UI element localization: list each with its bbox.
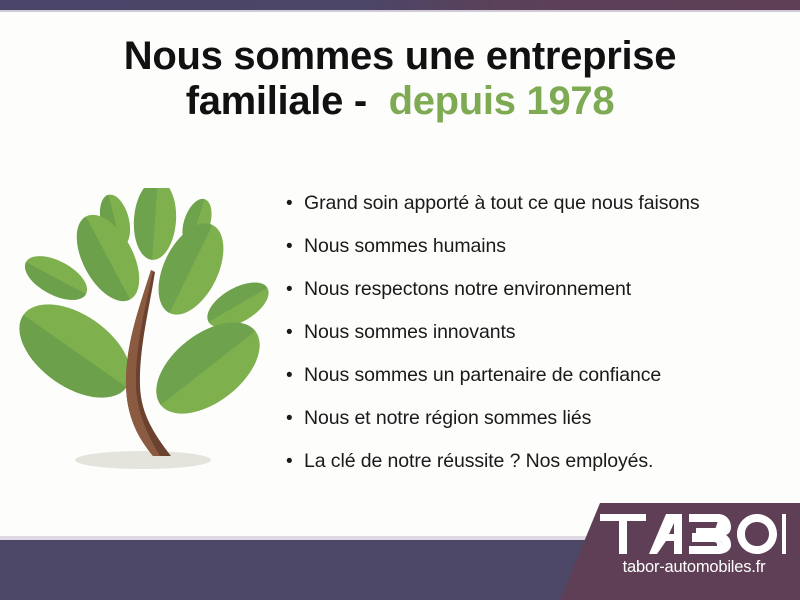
- bullet-text: Nous sommes humains: [304, 235, 506, 258]
- logo-letter-r: [782, 514, 786, 554]
- tabor-logo[interactable]: [600, 514, 786, 554]
- bullet-marker-icon: •: [286, 194, 304, 213]
- tree-ground-shadow: [75, 451, 211, 469]
- title-dash: [343, 79, 354, 123]
- logo-letter-o: [737, 514, 777, 554]
- title-separator: -: [354, 79, 367, 123]
- title-space: [367, 79, 389, 123]
- title-accent: depuis 1978: [389, 79, 615, 123]
- bullet-text: Nous sommes un partenaire de confiance: [304, 364, 661, 387]
- list-item: • Nous sommes innovants: [286, 321, 786, 364]
- bullet-marker-icon: •: [286, 409, 304, 428]
- bullet-marker-icon: •: [286, 280, 304, 299]
- title-line-1: Nous sommes une entreprise: [0, 34, 800, 79]
- tree-illustration: [12, 188, 280, 488]
- top-accent-strip: [0, 0, 800, 10]
- bullet-list: • Grand soin apporté à tout ce que nous …: [286, 192, 786, 493]
- list-item: • Nous respectons notre environnement: [286, 278, 786, 321]
- top-strip-hairline: [0, 10, 800, 12]
- logo-url-text[interactable]: tabor-automobiles.fr: [600, 558, 788, 577]
- list-item: • Nous sommes humains: [286, 235, 786, 278]
- bullet-marker-icon: •: [286, 237, 304, 256]
- slide-canvas: Nous sommes une entreprise familiale - d…: [0, 0, 800, 600]
- title-line-2: familiale - depuis 1978: [0, 79, 800, 124]
- bullet-marker-icon: •: [286, 366, 304, 385]
- list-item: • La clé de notre réussite ? Nos employé…: [286, 450, 786, 493]
- bullet-text: Nous et notre région sommes liés: [304, 407, 591, 430]
- bullet-marker-icon: •: [286, 452, 304, 471]
- logo-letter-a: [649, 514, 678, 554]
- page-title: Nous sommes une entreprise familiale - d…: [0, 34, 800, 124]
- bullet-marker-icon: •: [286, 323, 304, 342]
- list-item: • Grand soin apporté à tout ce que nous …: [286, 192, 786, 235]
- logo-letter-t: [600, 514, 646, 554]
- bullet-text: Grand soin apporté à tout ce que nous fa…: [304, 192, 700, 215]
- bullet-text: Nous sommes innovants: [304, 321, 515, 344]
- list-item: • Nous et notre région sommes liés: [286, 407, 786, 450]
- list-item: • Nous sommes un partenaire de confiance: [286, 364, 786, 407]
- title-line-2-main: familiale: [186, 79, 343, 123]
- bullet-text: La clé de notre réussite ? Nos employés.: [304, 450, 653, 473]
- bullet-text: Nous respectons notre environnement: [304, 278, 631, 301]
- leaf-lower-right: [140, 304, 276, 431]
